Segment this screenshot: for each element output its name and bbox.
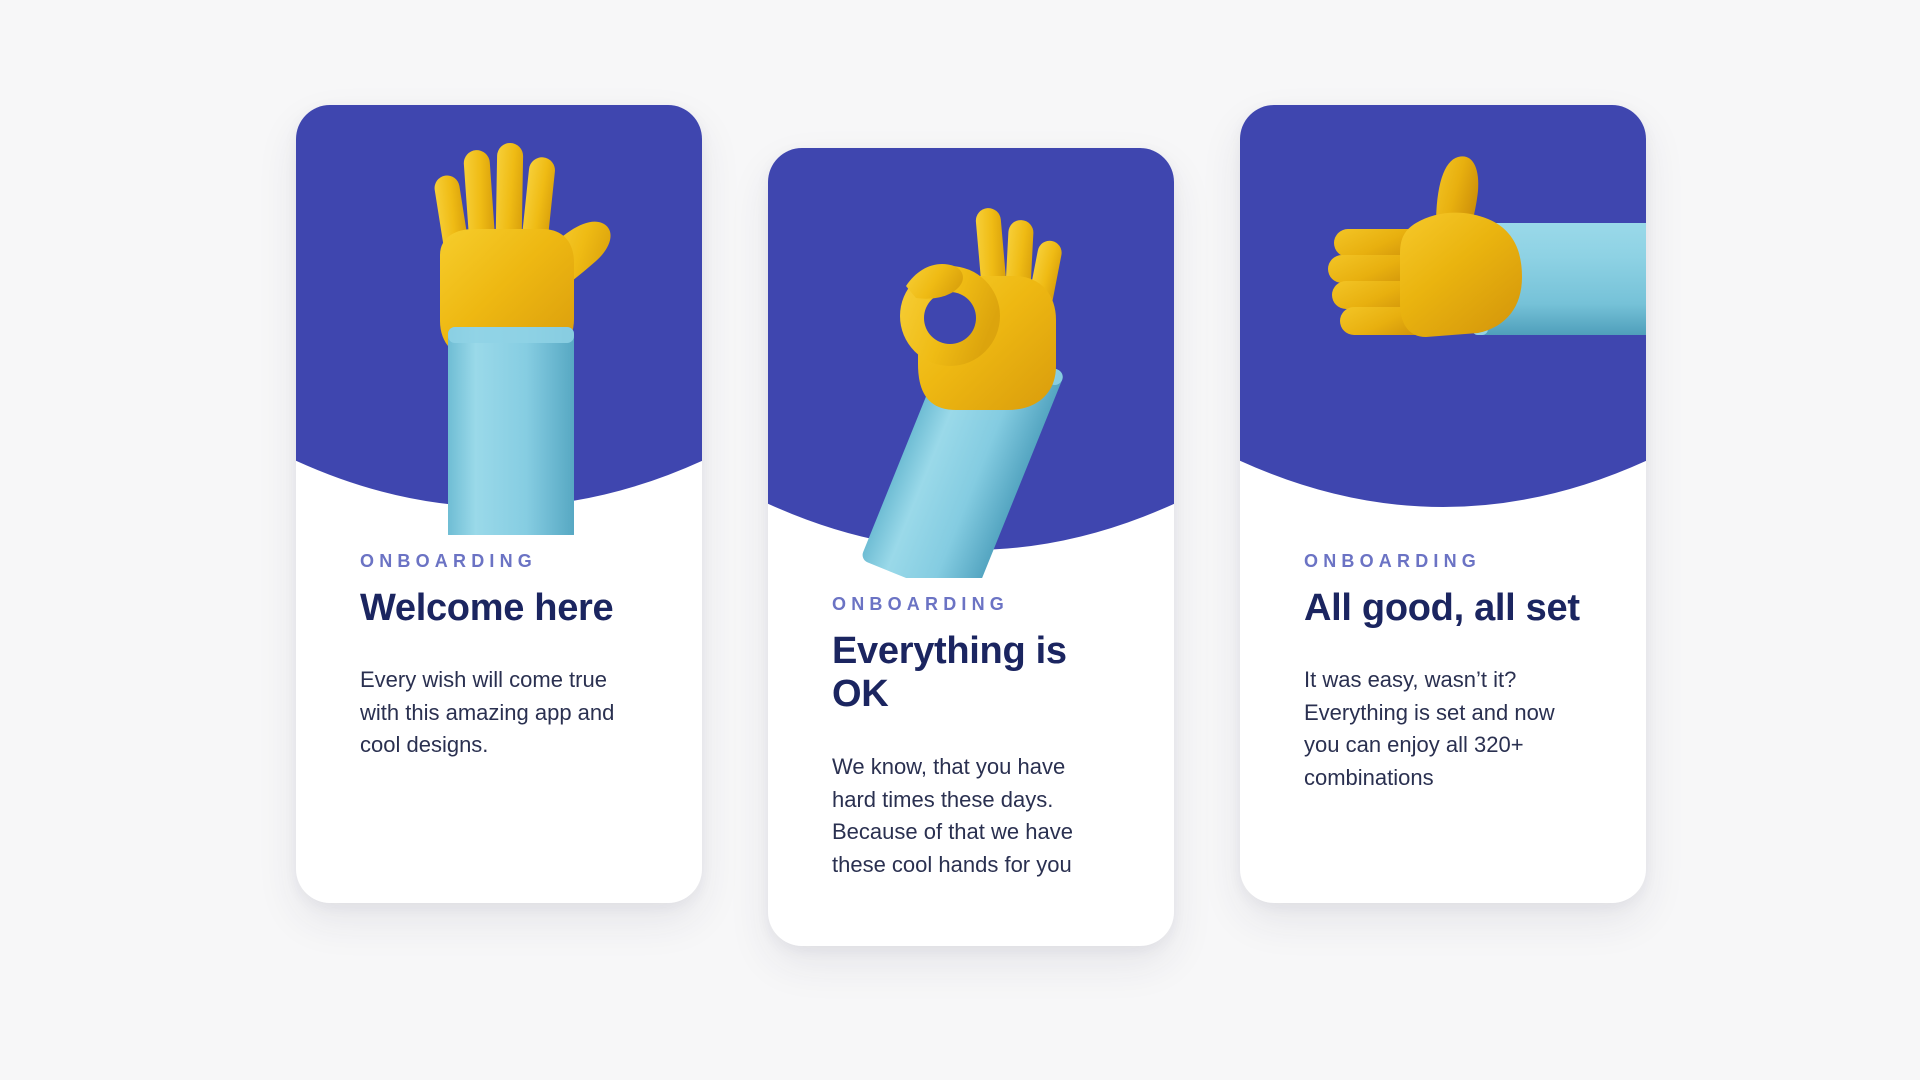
card-headline: Welcome here: [360, 587, 638, 631]
onboarding-card-everything-ok[interactable]: ONBOARDING Everything is OK We know, tha…: [768, 148, 1174, 946]
card-hero-welcome: [296, 105, 702, 535]
card-headline: All good, all set: [1304, 587, 1582, 631]
hand-palm: [1400, 213, 1522, 337]
card-body-welcome: ONBOARDING Welcome here Every wish will …: [296, 551, 702, 762]
card-hero-everything-ok: [768, 148, 1174, 578]
onboarding-card-welcome[interactable]: ONBOARDING Welcome here Every wish will …: [296, 105, 702, 903]
waving-hand-illustration: [296, 105, 702, 535]
card-headline: Everything is OK: [832, 630, 1110, 717]
onboarding-screen: ONBOARDING Welcome here Every wish will …: [0, 0, 1920, 1080]
eyebrow-label: ONBOARDING: [832, 594, 1110, 616]
eyebrow-label: ONBOARDING: [360, 551, 638, 573]
hand-sleeve: [448, 327, 574, 535]
card-hero-all-set: [1240, 105, 1646, 535]
onboarding-card-all-set[interactable]: ONBOARDING All good, all set It was easy…: [1240, 105, 1646, 903]
card-blurb: Every wish will come true with this amaz…: [360, 664, 635, 762]
thumbs-up-hand-illustration: [1240, 105, 1646, 535]
card-body-all-set: ONBOARDING All good, all set It was easy…: [1240, 551, 1646, 794]
card-blurb: It was easy, wasn’t it? Everything is se…: [1304, 664, 1579, 794]
card-blurb: We know, that you have hard times these …: [832, 751, 1107, 881]
ok-hand-illustration: [768, 148, 1174, 578]
card-body-everything-ok: ONBOARDING Everything is OK We know, tha…: [768, 594, 1174, 881]
eyebrow-label: ONBOARDING: [1304, 551, 1582, 573]
